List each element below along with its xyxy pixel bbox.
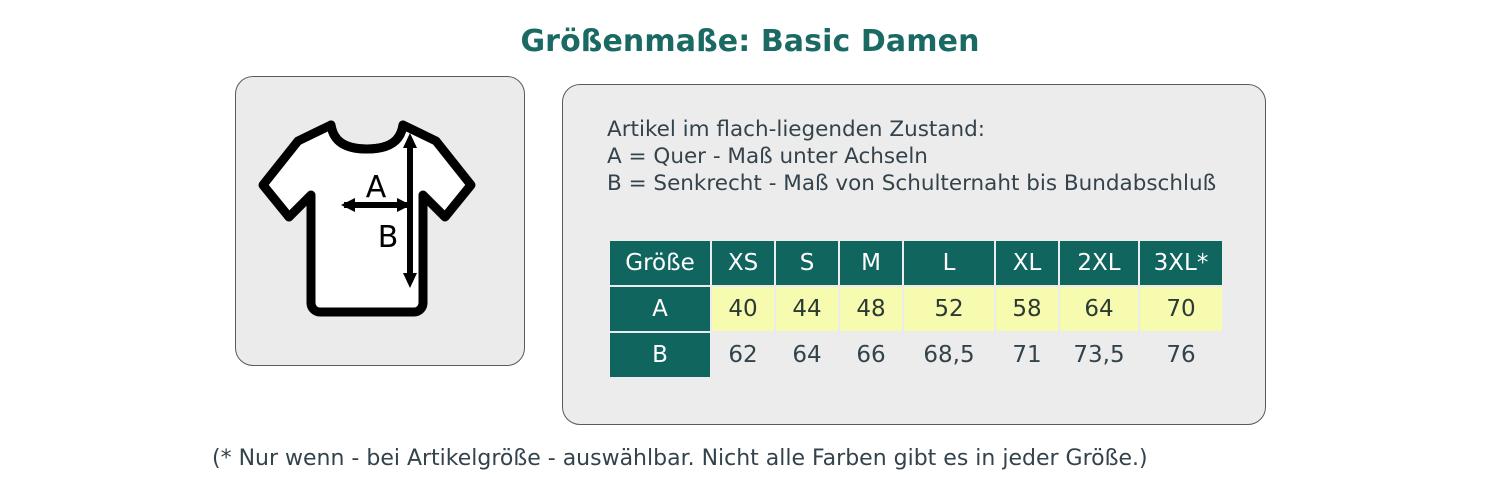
table-cell: 68,5: [904, 333, 994, 377]
size-table: Größe XS S M L XL 2XL 3XL* A 40 44 48 52…: [608, 239, 1224, 379]
table-cell: 48: [840, 287, 902, 331]
table-header-cell: XS: [712, 241, 774, 285]
footnote: (* Nur wenn - bei Artikelgröße - auswähl…: [212, 446, 1148, 471]
table-cell: 44: [776, 287, 838, 331]
table-cell: 40: [712, 287, 774, 331]
measurement-description: Artikel im flach-liegenden Zustand: A = …: [607, 116, 1216, 197]
table-header-cell: Größe: [610, 241, 710, 285]
row-label-b: B: [610, 333, 710, 377]
table-header-row: Größe XS S M L XL 2XL 3XL*: [610, 241, 1222, 285]
tshirt-icon: A B: [236, 77, 526, 367]
size-info-panel: Artikel im flach-liegenden Zustand: A = …: [562, 84, 1266, 425]
description-line-2: A = Quer - Maß unter Achseln: [607, 143, 1216, 170]
table-cell: 71: [996, 333, 1058, 377]
table-header-cell: 3XL*: [1140, 241, 1222, 285]
table-row: A 40 44 48 52 58 64 70: [610, 287, 1222, 331]
table-header-cell: L: [904, 241, 994, 285]
table-cell: 66: [840, 333, 902, 377]
table-header-cell: XL: [996, 241, 1058, 285]
table-cell: 62: [712, 333, 774, 377]
tshirt-diagram-panel: A B: [235, 76, 525, 366]
table-header-cell: S: [776, 241, 838, 285]
measure-label-a: A: [366, 170, 387, 205]
table-cell: 64: [1060, 287, 1138, 331]
page-title: Größenmaße: Basic Damen: [0, 24, 1500, 59]
table-cell: 52: [904, 287, 994, 331]
table-cell: 73,5: [1060, 333, 1138, 377]
measure-label-b: B: [378, 220, 399, 255]
table-row: B 62 64 66 68,5 71 73,5 76: [610, 333, 1222, 377]
table-header-cell: 2XL: [1060, 241, 1138, 285]
table-cell: 58: [996, 287, 1058, 331]
table-cell: 64: [776, 333, 838, 377]
table-header-cell: M: [840, 241, 902, 285]
row-label-a: A: [610, 287, 710, 331]
table-cell: 70: [1140, 287, 1222, 331]
table-cell: 76: [1140, 333, 1222, 377]
description-line-3: B = Senkrecht - Maß von Schulternaht bis…: [607, 170, 1216, 197]
description-line-1: Artikel im flach-liegenden Zustand:: [607, 116, 1216, 143]
